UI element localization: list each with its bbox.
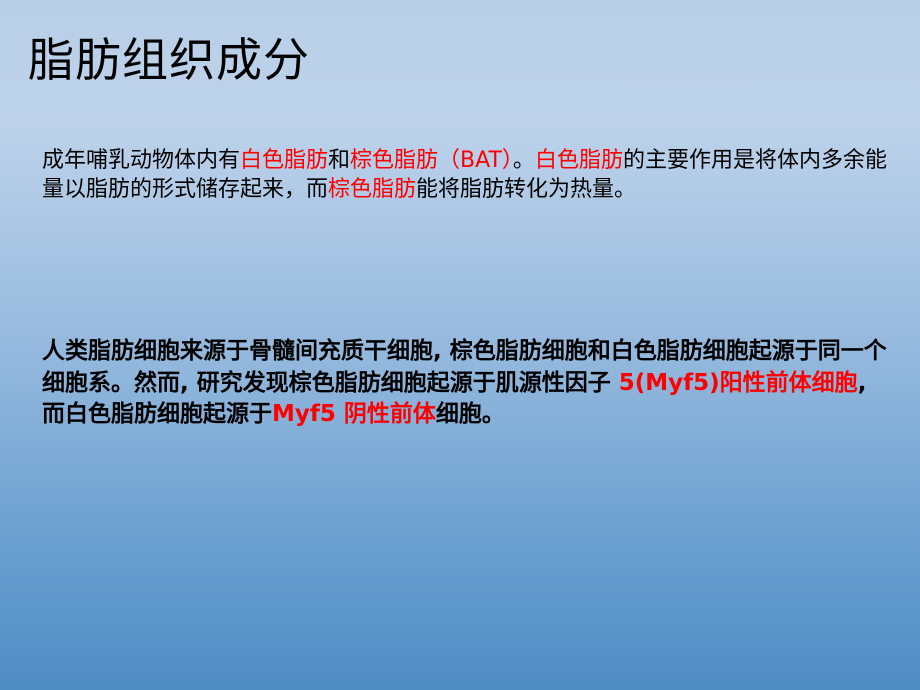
text-segment-highlight: 白色脂肪 [535,148,623,173]
text-segment: 能将脂肪转化为热量。 [416,177,636,202]
text-segment: 和 [328,148,350,173]
page-title: 脂肪组织成分 [28,34,310,87]
text-segment: 。 [513,148,535,173]
paragraph-adipose-types: 成年哺乳动物体内有白色脂肪和棕色脂肪（BAT）。白色脂肪的主要作用是将体内多余能… [42,146,888,204]
text-segment-highlight: 白色脂肪 [240,148,328,173]
slide-canvas: 脂肪组织成分 成年哺乳动物体内有白色脂肪和棕色脂肪（BAT）。白色脂肪的主要作用… [0,0,920,690]
text-segment-highlight: 棕色脂肪（BAT） [350,148,513,173]
text-segment-highlight: Myf5 阴性前体 [272,401,436,427]
text-segment: 细胞。 [436,401,505,427]
text-segment: 成年哺乳动物体内有 [42,148,240,173]
text-segment-highlight: 5(Myf5)阳性前体细胞 [619,370,858,396]
text-segment-highlight: 棕色脂肪 [328,177,416,202]
paragraph-adipocyte-origin: 人类脂肪细胞来源于骨髓间充质干细胞, 棕色脂肪细胞和白色脂肪细胞起源于同一个细胞… [42,336,888,431]
